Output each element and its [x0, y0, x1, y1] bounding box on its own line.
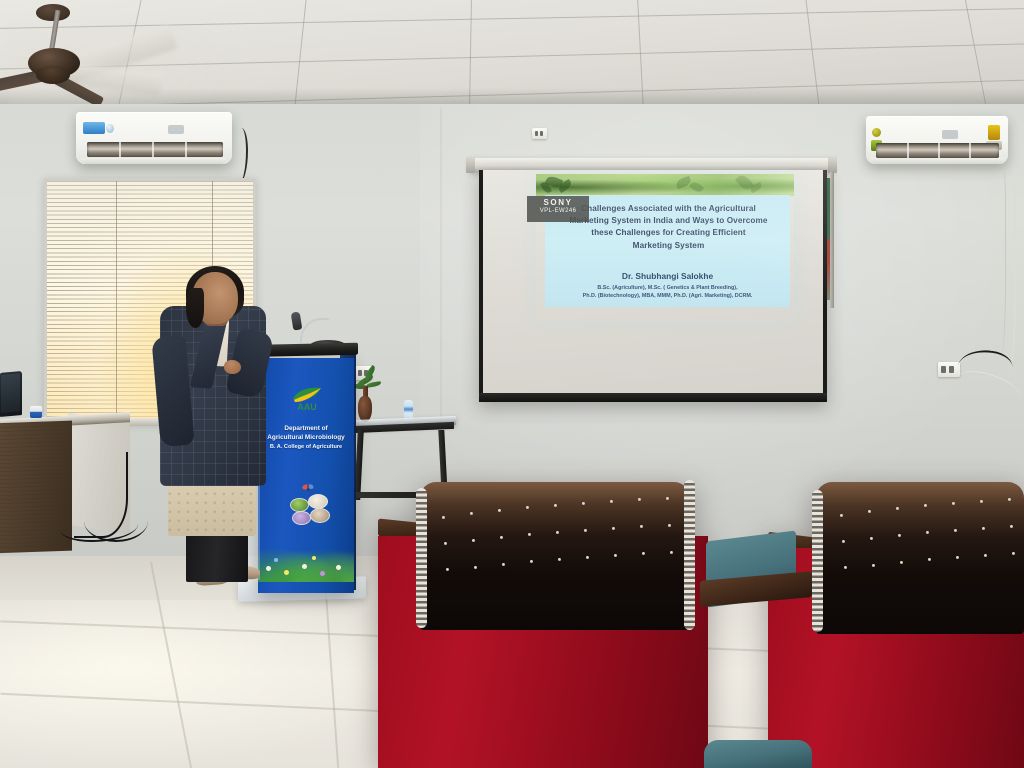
ac-bottom-lip	[870, 158, 1004, 164]
wall-board-edge	[830, 172, 834, 308]
butterfly-graphic	[302, 480, 312, 488]
podium-text-line-2: Agricultural Microbiology	[258, 434, 354, 441]
ac-display-panel	[942, 130, 958, 139]
petri-dish-3	[292, 511, 311, 525]
screen-bottom-bar	[479, 393, 827, 402]
slide-title-line-4: Marketing System	[551, 240, 786, 252]
screen-bracket-left	[466, 156, 475, 173]
fan-hub-cap	[36, 66, 70, 84]
slide-header-band	[536, 174, 794, 196]
podium-grass-graphic	[258, 538, 354, 582]
ac-right-pipe	[992, 168, 1006, 358]
petri-dish-2	[308, 494, 328, 509]
projector-osd-overlay: SONY VPL-EW246	[527, 196, 589, 222]
ac-vent-louvers	[876, 143, 1000, 157]
sofa-right-backrest	[816, 482, 1024, 634]
ac-bottom-lip	[81, 158, 228, 164]
desk-small-item[interactable]	[30, 406, 42, 418]
podium-text-line-3: B. A. College of Agriculture	[258, 444, 354, 450]
speaker-hand	[224, 360, 241, 374]
ac-energy-sticker	[872, 128, 881, 137]
vase	[358, 396, 372, 422]
ac-sticker	[106, 124, 114, 133]
sofa-left-trim-left	[416, 488, 427, 628]
petri-dish-1	[290, 498, 309, 512]
aau-logo: AAU	[290, 386, 324, 412]
blind-cord[interactable]	[116, 181, 117, 420]
lecture-hall-photograph: Challenges Associated with the Agricultu…	[0, 0, 1024, 768]
ac-energy-label	[988, 125, 1000, 140]
laptop[interactable]	[0, 371, 22, 417]
split-air-conditioner-left	[76, 112, 232, 164]
slide-title-line-3: these Challenges for Creating Efficient	[551, 227, 786, 239]
ac-brand-badge	[83, 122, 105, 134]
slide-credentials-line-2: Ph.D. (Biotechnology), MBA, MMM, Ph.D. (…	[547, 292, 788, 300]
aau-logo-svg: AAU	[290, 386, 324, 412]
aau-logo-text: AAU	[297, 402, 317, 412]
floor-sunlight-reflection	[0, 600, 420, 768]
podium-text-line-1: Department of	[258, 425, 354, 432]
speaker-hair-side	[186, 288, 204, 328]
split-air-conditioner-right	[866, 116, 1008, 164]
slide-author-name: Dr. Shubhangi Salokhe	[545, 271, 790, 281]
sofa-right-trim-left	[812, 490, 823, 632]
sofa-left[interactable]	[378, 470, 708, 768]
projector-model-label: VPL-EW246	[527, 208, 589, 214]
wall-socket-upper[interactable]	[532, 128, 547, 139]
sofa-right[interactable]	[768, 468, 1024, 768]
screen-bracket-right	[828, 156, 837, 173]
projector-brand-label: SONY	[527, 198, 589, 207]
sofa-left-trim-right	[684, 480, 695, 630]
foreground-chair-top[interactable]	[704, 740, 812, 768]
laptop-screen	[1, 373, 20, 413]
ac-display-panel	[168, 125, 184, 134]
ac-vent-louvers	[87, 142, 223, 158]
petri-dish-4	[310, 508, 330, 523]
slide-credentials-line-1: B.Sc. (Agriculture), M.Sc. ( Genetics & …	[547, 284, 788, 292]
